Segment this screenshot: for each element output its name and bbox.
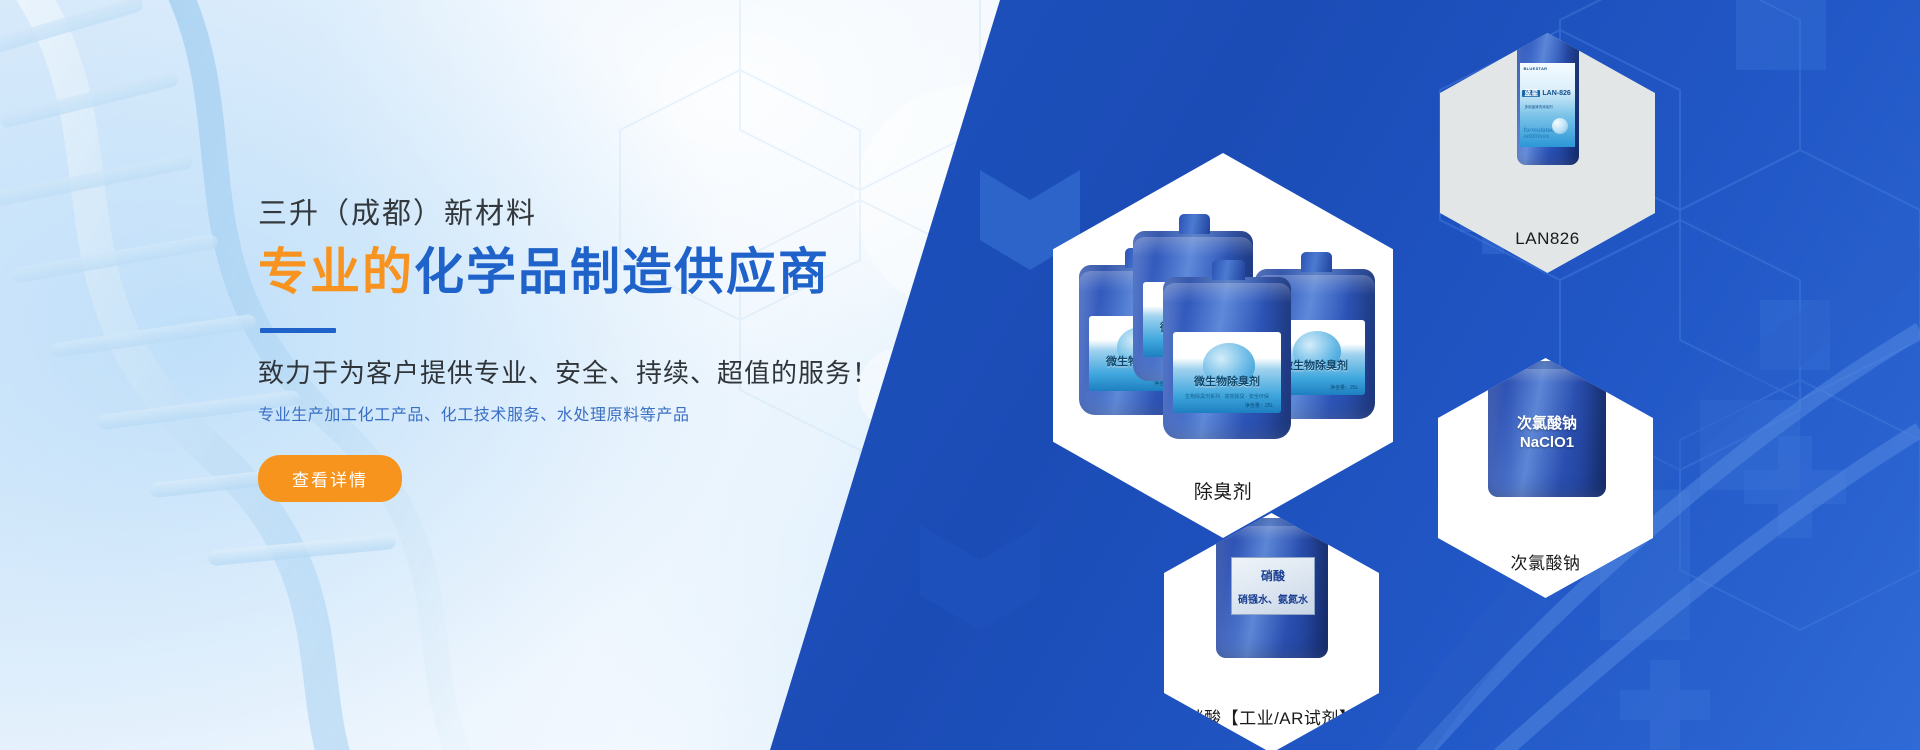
hero-banner: 三升（成都）新材料 专业的化学品制造供应商 致力于为客户提供专业、安全、持续、超…: [0, 0, 1920, 750]
drum-front-label: 微生物除臭剂 生物除臭剂系列 · 高效除臭 · 安全环保 净含量：25L: [1173, 332, 1281, 413]
code-badge: 蓝星: [1522, 90, 1540, 97]
plate-line-2: 硝镪水、氨氮水: [1238, 591, 1308, 606]
code-text: LAN-826: [1542, 90, 1570, 97]
can-text-cn: 次氯酸钠: [1488, 415, 1606, 434]
divider: [260, 328, 336, 333]
can-nitric-acid: 硝酸 硝镪水、氨氮水: [1216, 518, 1328, 658]
tagline: 致力于为客户提供专业、安全、持续、超值的服务！: [258, 357, 978, 391]
can-label-plate: 硝酸 硝镪水、氨氮水: [1231, 557, 1316, 615]
drum-label-volume: 净含量：25L: [1330, 384, 1358, 391]
headline-main: 化学品制造供应商: [414, 244, 830, 300]
can-text-block: 次氯酸钠 NaClO1: [1488, 415, 1606, 453]
plate-line-1: 硝酸: [1261, 567, 1285, 584]
hero-copy: 三升（成都）新材料 专业的化学品制造供应商 致力于为客户提供专业、安全、持续、超…: [258, 196, 978, 502]
drum-label-subtitle: 生物除臭剂系列 · 高效除臭 · 安全环保: [1173, 393, 1281, 400]
view-details-button[interactable]: 查看详情: [258, 455, 402, 502]
drum-label-volume: 净含量：25L: [1245, 402, 1273, 409]
droplet-graphic: [1552, 118, 1568, 134]
label-fine-print: 多用途清洗添加剂: [1525, 105, 1553, 110]
brand-text: BLUESTAR: [1523, 66, 1547, 71]
headline-accent: 专业的: [258, 244, 414, 300]
company-name: 三升（成都）新材料: [258, 196, 978, 232]
drum-front: 微生物除臭剂 生物除臭剂系列 · 高效除臭 · 安全环保 净含量：25L: [1163, 277, 1291, 439]
drum-label-title: 微生物除臭剂: [1173, 373, 1281, 389]
page-title: 专业的化学品制造供应商: [258, 242, 978, 302]
bottle-label: BLUESTAR 蓝星LAN-826 多用途清洗添加剂 formulated a…: [1520, 63, 1575, 147]
label-italic-text: formulated additives: [1523, 128, 1574, 140]
can-text-en: NaClO1: [1488, 434, 1606, 453]
product-code: 蓝星LAN-826: [1522, 88, 1570, 98]
sub-tagline: 专业生产加工化工产品、化工技术服务、水处理原料等产品: [258, 401, 978, 425]
